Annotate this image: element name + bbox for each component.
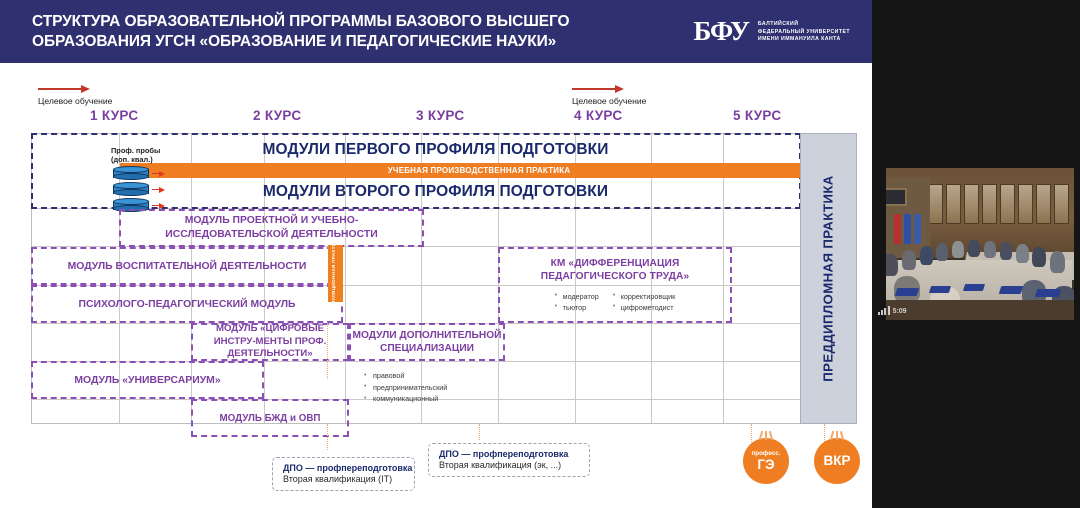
prof-probes-line-1: Проф. пробы bbox=[111, 146, 160, 155]
course-label-5: 5 КУРС bbox=[733, 108, 781, 123]
video-conference-panel: 5:09 Активация Windows Чтобы активироват… bbox=[872, 0, 1080, 508]
dotted-connector bbox=[479, 424, 480, 440]
km-differentiation-block: КМ «ДИФФЕРЕНЦИАЦИЯ ПЕДАГОГИЧЕСКОГО ТРУДА… bbox=[498, 247, 732, 323]
dotted-connector bbox=[327, 323, 328, 379]
screen-root: СТРУКТУРА ОБРАЗОВАТЕЛЬНОЙ ПРОГРАММЫ БАЗО… bbox=[0, 0, 1080, 508]
km-item: модератор bbox=[555, 291, 599, 302]
slide-header: СТРУКТУРА ОБРАЗОВАТЕЛЬНОЙ ПРОГРАММЫ БАЗО… bbox=[0, 0, 872, 63]
dpo-box-right: ДПО — профпереподготовка Вторая квалифик… bbox=[428, 443, 590, 477]
university-logo: БФУ Балтийский Федеральный университет и… bbox=[694, 16, 872, 47]
video-tile[interactable]: 5:09 bbox=[872, 168, 1080, 320]
cylinder-icon bbox=[113, 166, 149, 181]
vkr-badge: ВКР bbox=[814, 438, 860, 484]
state-exam-prefix: професс. bbox=[751, 451, 780, 457]
km-col-1: модератор тьютор bbox=[555, 291, 599, 313]
project-research-module: МОДУЛЬ ПРОЕКТНОЙ И УЧЕБНО-ИССЛЕДОВАТЕЛЬС… bbox=[119, 209, 424, 247]
targeted-training-left: Целевое обучение bbox=[38, 84, 112, 106]
km-col-2: корректировщик цифрометодист bbox=[613, 291, 676, 313]
dotted-connector bbox=[327, 424, 328, 450]
state-exam-label: ГЭ bbox=[757, 458, 774, 472]
course-label-3: 3 КУРС bbox=[416, 108, 464, 123]
cylinder-icon bbox=[113, 182, 149, 197]
prof-probes-line-2: (доп. квал.) bbox=[111, 155, 160, 164]
universarium-module: МОДУЛЬ «УНИВЕРСАРИУМ» bbox=[31, 361, 264, 399]
spec-item: коммуникационный bbox=[364, 393, 447, 405]
dpo-left-line-2: Вторая квалификация (IT) bbox=[283, 474, 404, 484]
video-timer-label: 5:09 bbox=[893, 308, 907, 315]
km-title: КМ «ДИФФЕРЕНЦИАЦИЯ ПЕДАГОГИЧЕСКОГО ТРУДА… bbox=[512, 257, 718, 285]
simulation-practice-strip: СИМУЛЯЦИОННАЯ ПРАКТИКА bbox=[328, 245, 343, 302]
bzd-ovp-module: МОДУЛЬ БЖД и ОВП bbox=[191, 399, 349, 437]
logo-mark-bfu: БФУ bbox=[694, 16, 749, 47]
additional-specialization-list: правовой предпринимательский коммуникаци… bbox=[364, 370, 447, 405]
additional-specialization-module: МОДУЛИ ДОПОЛНИТЕЛЬНОЙ СПЕЦИАЛИЗАЦИИ bbox=[349, 323, 505, 361]
dpo-left-line-1: ДПО — профпереподготовка bbox=[283, 463, 404, 473]
letterbox-left bbox=[872, 168, 886, 320]
vkr-label: ВКР bbox=[824, 454, 851, 468]
course-label-1: 1 КУРС bbox=[90, 108, 138, 123]
logo-text-lines: Балтийский Федеральный университет имени… bbox=[758, 21, 850, 42]
video-frame bbox=[872, 168, 1080, 320]
program-structure-diagram: МОДУЛИ ПЕРВОГО ПРОФИЛЯ ПОДГОТОВКИ УЧЕБНА… bbox=[31, 133, 840, 424]
dpo-right-line-2: Вторая квалификация (эк, ...) bbox=[439, 460, 579, 470]
arrow-right-icon bbox=[152, 186, 166, 194]
prediploma-practice-block: ПРЕДДИПЛОМНАЯ ПРАКТИКА bbox=[800, 133, 857, 424]
educational-practice-band: УЧЕБНАЯ ПРОИЗВОДСТВЕННАЯ ПРАКТИКА bbox=[120, 163, 838, 178]
km-item: тьютор bbox=[555, 302, 599, 313]
video-overlay-controls[interactable]: 5:09 bbox=[878, 306, 907, 315]
dpo-right-line-1: ДПО — профпереподготовка bbox=[439, 449, 579, 459]
arrow-right-icon bbox=[152, 170, 166, 178]
targeted-training-right-label: Целевое обучение bbox=[572, 96, 646, 106]
prediploma-practice-label: ПРЕДДИПЛОМНАЯ ПРАКТИКА bbox=[821, 175, 836, 381]
additional-specialization-title: МОДУЛИ ДОПОЛНИТЕЛЬНОЙ СПЕЦИАЛИЗАЦИИ bbox=[351, 329, 503, 356]
digital-tools-module: МОДУЛЬ «ЦИФРОВЫЕ ИНСТРУ-МЕНТЫ ПРОФ. ДЕЯТ… bbox=[191, 323, 349, 361]
targeted-training-left-label: Целевое обучение bbox=[38, 96, 112, 106]
upbringing-activity-module: МОДУЛЬ ВОСПИТАТЕЛЬНОЙ ДЕЯТЕЛЬНОСТИ bbox=[31, 247, 343, 285]
page-title: СТРУКТУРА ОБРАЗОВАТЕЛЬНОЙ ПРОГРАММЫ БАЗО… bbox=[0, 12, 640, 51]
km-role-lists: модератор тьютор корректировщик цифромет… bbox=[555, 291, 676, 313]
signal-strength-icon bbox=[878, 306, 890, 315]
dpo-box-left: ДПО — профпереподготовка Вторая квалифик… bbox=[272, 457, 415, 491]
spec-item: предпринимательский bbox=[364, 382, 447, 394]
km-item: корректировщик bbox=[613, 291, 676, 302]
prof-probes-label: Проф. пробы (доп. квал.) bbox=[111, 146, 160, 165]
logo-line-2: Федеральный университет bbox=[758, 29, 850, 35]
logo-line-3: имени Иммануила Канта bbox=[758, 36, 850, 42]
course-label-4: 4 КУРС bbox=[574, 108, 622, 123]
state-exam-badge: професс. ГЭ bbox=[743, 438, 789, 484]
km-item: цифрометодист bbox=[613, 302, 676, 313]
letterbox-right bbox=[1074, 168, 1080, 320]
logo-line-1: Балтийский bbox=[758, 21, 850, 27]
ribbon-icon bbox=[831, 431, 843, 440]
presentation-slide: СТРУКТУРА ОБРАЗОВАТЕЛЬНОЙ ПРОГРАММЫ БАЗО… bbox=[0, 0, 872, 508]
course-label-2: 2 КУРС bbox=[253, 108, 301, 123]
arrow-right-icon bbox=[38, 84, 90, 94]
spec-item: правовой bbox=[364, 370, 447, 382]
simulation-practice-label: СИМУЛЯЦИОННАЯ ПРАКТИКА bbox=[333, 235, 339, 311]
psycho-pedagogical-module: ПСИХОЛОГО-ПЕДАГОГИЧЕСКИЙ МОДУЛЬ bbox=[31, 285, 343, 323]
arrow-right-icon bbox=[572, 84, 624, 94]
targeted-training-right: Целевое обучение bbox=[572, 84, 646, 106]
ribbon-icon bbox=[760, 431, 772, 440]
prof-probes-stack bbox=[113, 166, 149, 214]
